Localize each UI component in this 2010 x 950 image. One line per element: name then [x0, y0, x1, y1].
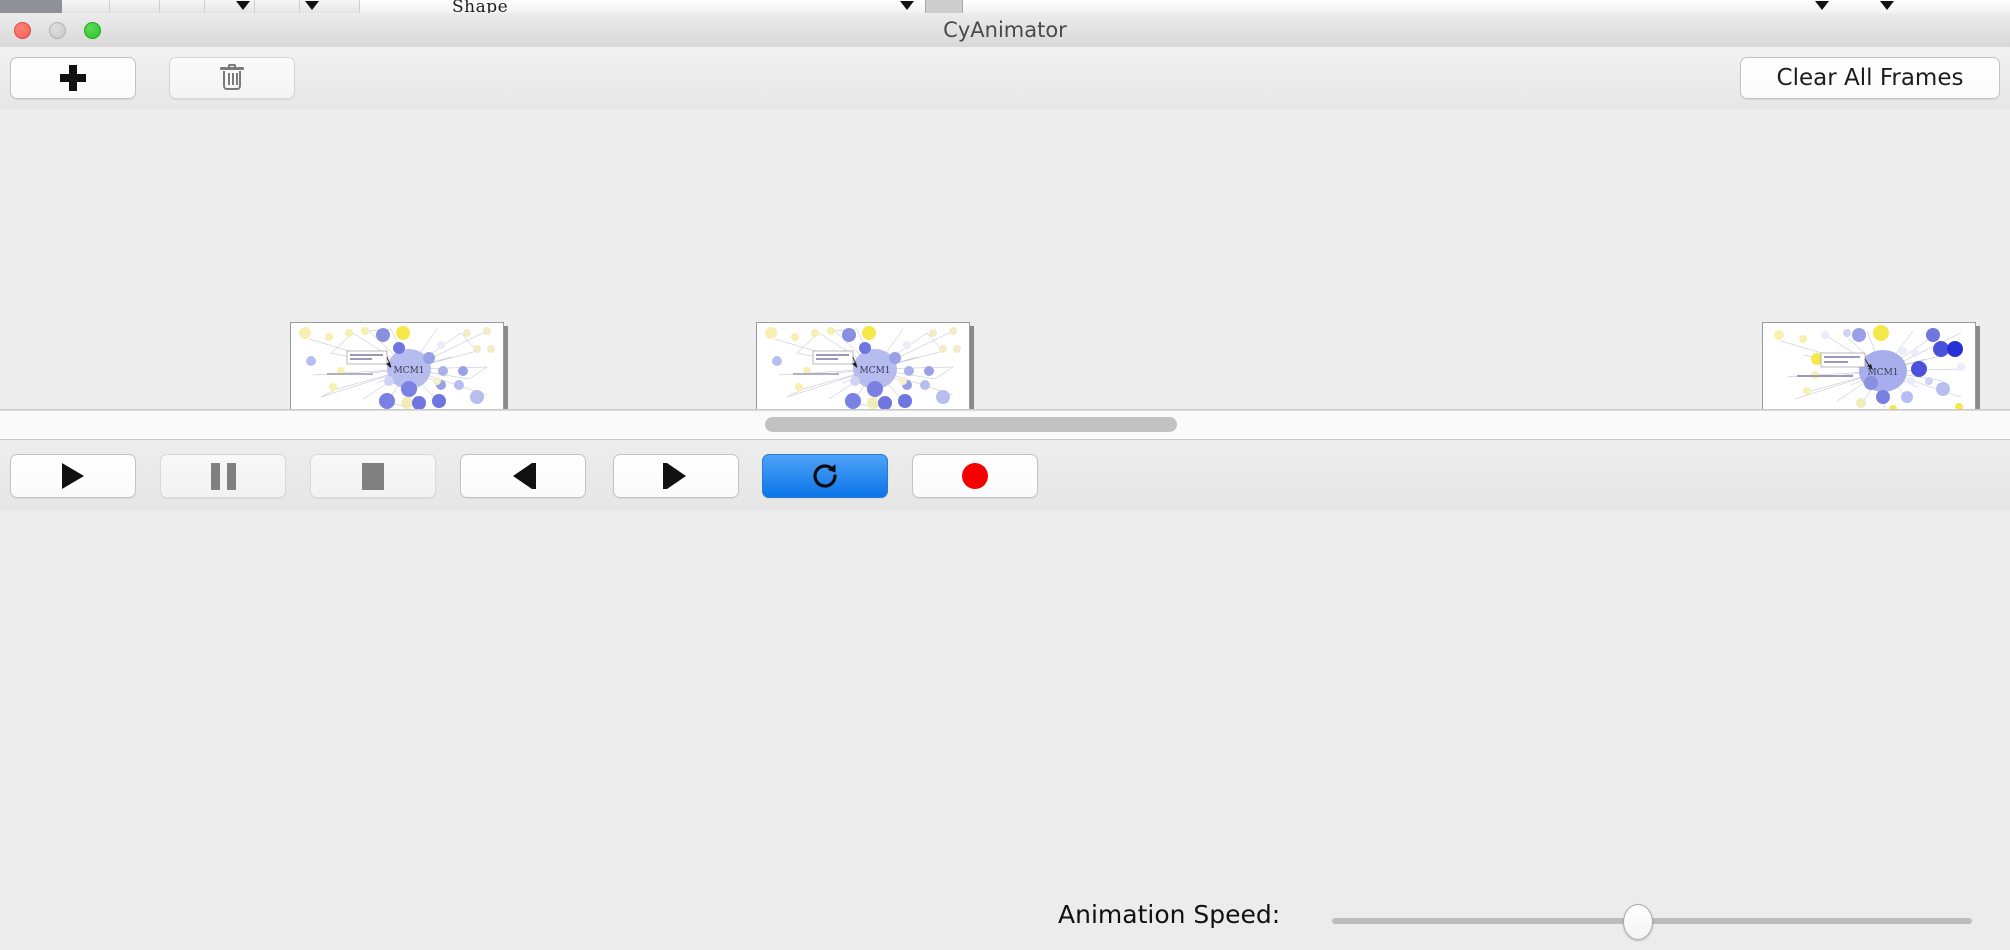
record-icon	[962, 463, 988, 489]
skip-forward-icon	[663, 463, 689, 489]
loop-icon	[810, 461, 840, 491]
pause-button[interactable]	[160, 454, 286, 498]
play-icon	[62, 463, 84, 489]
background-selected-tab	[0, 0, 62, 13]
svg-text:MCM1: MCM1	[1867, 368, 1898, 378]
cyanimator-window: Shape CyAnimator Clear All Frames	[0, 0, 2010, 510]
background-tab	[255, 0, 300, 13]
frame-thumbnail[interactable]: MCM1	[290, 322, 508, 410]
frame-thumbnail[interactable]: MCM1	[1762, 322, 1980, 410]
frame-thumbnail[interactable]: MCM1	[756, 322, 974, 410]
background-knob	[925, 0, 963, 13]
plus-icon	[60, 65, 86, 91]
background-caret-icon	[900, 1, 914, 10]
background-caret-icon	[305, 1, 319, 10]
pause-icon	[211, 463, 236, 490]
thumbnail-network-image: MCM1	[290, 322, 504, 410]
play-button[interactable]	[10, 454, 136, 498]
first-frame-button[interactable]	[460, 454, 586, 498]
delete-frame-button[interactable]	[169, 57, 295, 99]
timeline-panel[interactable]: MCM1	[0, 109, 2010, 410]
stop-icon	[362, 463, 384, 490]
timeline-horizontal-scrollbar[interactable]	[0, 410, 2010, 440]
background-tab	[160, 0, 205, 13]
slider-thumb[interactable]	[1623, 904, 1653, 940]
playback-toolbar: Animation Speed:	[0, 439, 2010, 511]
last-frame-button[interactable]	[613, 454, 739, 498]
svg-text:MCM1: MCM1	[393, 366, 424, 376]
background-caret-icon	[1880, 1, 1894, 10]
background-caret-icon	[236, 1, 250, 10]
title-bar[interactable]: CyAnimator	[0, 13, 2010, 48]
svg-text:MCM1: MCM1	[859, 366, 890, 376]
loop-button[interactable]	[762, 454, 888, 498]
network-graph-a: MCM1	[291, 323, 503, 410]
network-graph-a: MCM1	[757, 323, 969, 410]
clear-all-frames-button[interactable]: Clear All Frames	[1740, 57, 2000, 99]
stop-button[interactable]	[310, 454, 436, 498]
background-tab	[110, 0, 160, 13]
animation-speed-slider[interactable]	[1332, 918, 1972, 924]
background-caret-icon	[1815, 1, 1829, 10]
background-window-strip: Shape	[0, 0, 2010, 14]
background-tab	[62, 0, 110, 13]
thumbnail-network-image: MCM1	[756, 322, 970, 410]
toolbar: Clear All Frames	[0, 47, 2010, 110]
animation-speed-label: Animation Speed:	[1058, 879, 1280, 950]
scrollbar-thumb[interactable]	[765, 417, 1177, 432]
add-frame-button[interactable]	[10, 57, 136, 99]
window-title: CyAnimator	[0, 13, 2010, 47]
thumbnail-network-image: MCM1	[1762, 322, 1976, 410]
background-window-label: Shape	[452, 0, 508, 14]
trash-icon	[220, 65, 244, 91]
network-graph-b: MCM1	[1763, 323, 1975, 410]
skip-back-icon	[510, 463, 536, 489]
record-button[interactable]	[912, 454, 1038, 498]
